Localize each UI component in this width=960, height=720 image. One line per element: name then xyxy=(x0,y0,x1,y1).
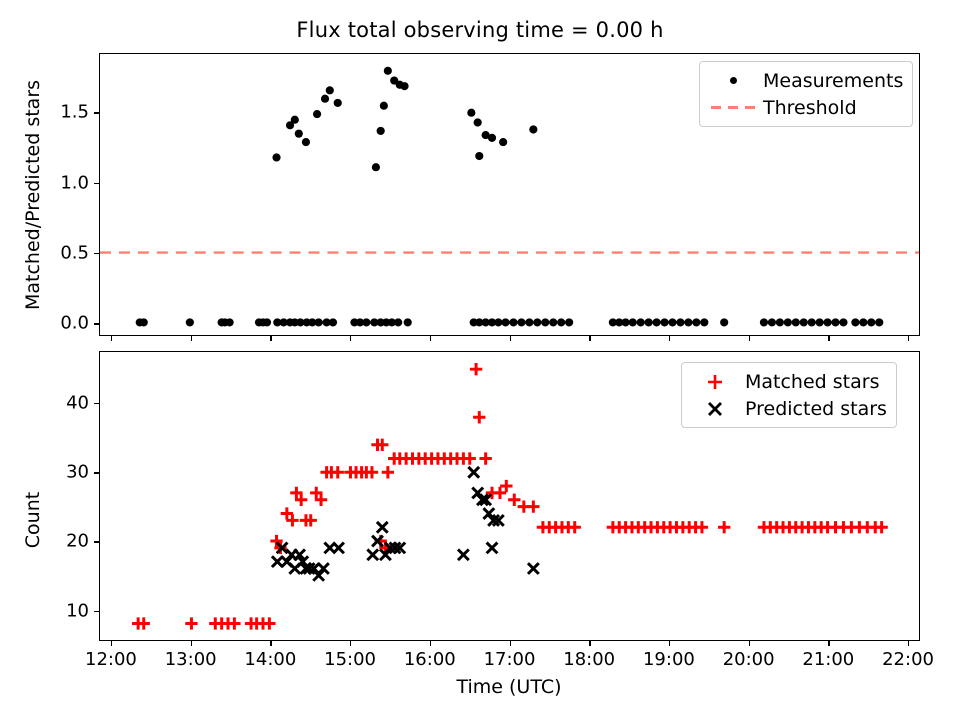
measurement-point xyxy=(362,318,370,326)
y-tick-bottom xyxy=(94,403,99,404)
measurement-point xyxy=(272,153,280,161)
matched-star-point xyxy=(479,452,491,464)
x-tick-bottom xyxy=(430,641,431,646)
cross-marker-icon xyxy=(689,399,741,419)
x-tick-bottom xyxy=(589,641,590,646)
x-tick-top xyxy=(111,336,112,341)
measurement-point xyxy=(226,318,234,326)
measurement-point xyxy=(851,318,859,326)
matched-star-point xyxy=(696,521,708,533)
x-tick-bottom xyxy=(908,641,909,646)
measurement-point xyxy=(760,318,768,326)
measurement-point xyxy=(474,118,482,126)
legend-label-predicted-stars: Predicted stars xyxy=(741,398,887,420)
count-y-axis-label: Count xyxy=(22,492,44,548)
y-tick-bottom xyxy=(94,472,99,473)
measurement-point xyxy=(839,318,847,326)
x-tick-bottom xyxy=(669,641,670,646)
x-tick-top xyxy=(669,336,670,341)
measurement-point xyxy=(394,318,402,326)
measurement-point xyxy=(334,99,342,107)
measurement-point xyxy=(768,318,776,326)
measurement-point xyxy=(533,318,541,326)
measurement-point xyxy=(645,318,653,326)
y-tick-top xyxy=(94,112,99,113)
plus-marker-icon xyxy=(689,372,741,392)
measurement-point xyxy=(509,318,517,326)
measurement-point xyxy=(467,109,475,117)
predicted-star-point xyxy=(528,563,539,574)
measurement-point xyxy=(831,318,839,326)
legend-item-threshold[interactable]: Threshold xyxy=(707,94,903,121)
y-tick-bottom xyxy=(94,541,99,542)
matched-star-point xyxy=(263,617,275,629)
measurement-point xyxy=(501,318,509,326)
x-tick-top xyxy=(908,336,909,341)
y-tick-label-bottom: 40 xyxy=(21,392,89,413)
y-tick-top xyxy=(94,253,99,254)
measurement-point xyxy=(808,318,816,326)
y-tick-label-bottom: 30 xyxy=(21,462,89,483)
predicted-star-point xyxy=(487,543,498,554)
x-tick-top xyxy=(430,336,431,341)
x-axis-label: Time (UTC) xyxy=(456,676,561,698)
dashed-line-icon xyxy=(707,106,759,109)
x-tick-label: 12:00 xyxy=(85,649,137,670)
measurement-point xyxy=(700,318,708,326)
y-tick-bottom xyxy=(94,611,99,612)
y-tick-top xyxy=(94,323,99,324)
legend-label-threshold: Threshold xyxy=(759,97,857,119)
matched-star-point xyxy=(382,466,394,478)
measurement-point xyxy=(525,318,533,326)
measurement-point xyxy=(660,318,668,326)
x-tick-label: 21:00 xyxy=(802,649,854,670)
measurement-point xyxy=(326,86,334,94)
x-tick-bottom xyxy=(749,641,750,646)
measurement-point xyxy=(384,67,392,75)
y-tick-top xyxy=(94,183,99,184)
measurement-point xyxy=(315,318,323,326)
x-tick-bottom xyxy=(510,641,511,646)
x-tick-bottom xyxy=(270,641,271,646)
measurement-point xyxy=(629,318,637,326)
x-tick-top xyxy=(510,336,511,341)
measurement-point xyxy=(541,318,549,326)
ratio-plot-legend[interactable]: Measurements Threshold xyxy=(699,61,913,127)
measurement-point xyxy=(140,318,148,326)
measurement-point xyxy=(653,318,661,326)
measurement-point xyxy=(784,318,792,326)
measurement-point xyxy=(291,116,299,124)
measurement-point xyxy=(859,318,867,326)
measurement-point xyxy=(400,82,408,90)
measurement-point xyxy=(302,138,310,146)
measurement-point xyxy=(867,318,875,326)
predicted-star-point xyxy=(458,549,469,560)
measurement-point xyxy=(823,318,831,326)
measurement-point xyxy=(404,318,412,326)
measurement-point xyxy=(313,110,321,118)
matched-star-point xyxy=(228,617,240,629)
legend-label-measurements: Measurements xyxy=(759,70,903,92)
measurement-point xyxy=(186,318,194,326)
legend-label-matched-stars: Matched stars xyxy=(741,371,879,393)
measurement-point xyxy=(668,318,676,326)
x-tick-top xyxy=(270,336,271,341)
matched-star-point xyxy=(473,411,485,423)
x-tick-top xyxy=(589,336,590,341)
measurement-point xyxy=(329,318,337,326)
legend-item-measurements[interactable]: Measurements xyxy=(707,67,903,94)
x-tick-top xyxy=(350,336,351,341)
matched-star-point xyxy=(470,363,482,375)
chart-title: Flux total observing time = 0.00 h xyxy=(0,18,960,42)
legend-item-predicted-stars[interactable]: Predicted stars xyxy=(689,395,887,422)
measurement-point xyxy=(676,318,684,326)
measurement-point xyxy=(557,318,565,326)
measurement-point xyxy=(776,318,784,326)
matched-star-point xyxy=(527,500,539,512)
measurement-point xyxy=(692,318,700,326)
x-tick-label: 22:00 xyxy=(882,649,934,670)
measurement-point xyxy=(720,318,728,326)
x-tick-label: 17:00 xyxy=(484,649,536,670)
measurement-point xyxy=(499,138,507,146)
x-tick-top xyxy=(191,336,192,341)
measurement-point xyxy=(475,152,483,160)
measurement-point xyxy=(792,318,800,326)
measurement-point xyxy=(377,127,385,135)
measurement-point xyxy=(622,318,630,326)
measurement-point xyxy=(380,102,388,110)
predicted-star-point xyxy=(377,522,388,533)
figure-canvas: Flux total observing time = 0.00 h 0.00.… xyxy=(0,0,960,720)
measurement-point xyxy=(295,130,303,138)
x-tick-bottom xyxy=(191,641,192,646)
matched-star-point xyxy=(185,617,197,629)
x-tick-label: 14:00 xyxy=(244,649,296,670)
matched-star-point xyxy=(508,494,520,506)
x-tick-label: 20:00 xyxy=(723,649,775,670)
x-tick-top xyxy=(749,336,750,341)
y-tick-label-bottom: 10 xyxy=(21,600,89,621)
matched-star-point xyxy=(464,452,476,464)
dot-marker-icon xyxy=(707,77,759,84)
measurement-point xyxy=(372,163,380,171)
matched-star-point xyxy=(332,466,344,478)
measurement-point xyxy=(684,318,692,326)
measurement-point xyxy=(637,318,645,326)
matched-star-point xyxy=(569,521,581,533)
x-tick-label: 15:00 xyxy=(324,649,376,670)
measurement-point xyxy=(494,318,502,326)
measurement-point xyxy=(800,318,808,326)
legend-item-matched-stars[interactable]: Matched stars xyxy=(689,368,887,395)
measurement-point xyxy=(549,318,557,326)
measurement-point xyxy=(529,125,537,133)
count-plot-legend[interactable]: Matched stars Predicted stars xyxy=(681,362,897,428)
x-tick-label: 18:00 xyxy=(563,649,615,670)
measurement-point xyxy=(816,318,824,326)
measurement-point xyxy=(565,318,573,326)
matched-star-point xyxy=(718,521,730,533)
measurement-point xyxy=(488,134,496,142)
x-tick-label: 16:00 xyxy=(404,649,456,670)
ratio-y-axis-label: Matched/Predicted stars xyxy=(22,80,44,310)
measurement-point xyxy=(517,318,525,326)
x-tick-label: 19:00 xyxy=(643,649,695,670)
x-tick-bottom xyxy=(828,641,829,646)
predicted-star-point xyxy=(468,467,479,478)
matched-star-point xyxy=(500,480,512,492)
measurement-point xyxy=(321,95,329,103)
measurement-point xyxy=(875,318,883,326)
matched-star-point xyxy=(494,487,506,499)
y-tick-label-top: 0.0 xyxy=(21,313,89,334)
predicted-star-point xyxy=(367,549,378,560)
predicted-star-point xyxy=(333,543,344,554)
matched-star-point xyxy=(875,521,887,533)
x-tick-bottom xyxy=(111,641,112,646)
x-tick-top xyxy=(828,336,829,341)
measurement-point xyxy=(263,318,271,326)
x-tick-bottom xyxy=(350,641,351,646)
x-tick-label: 13:00 xyxy=(165,649,217,670)
